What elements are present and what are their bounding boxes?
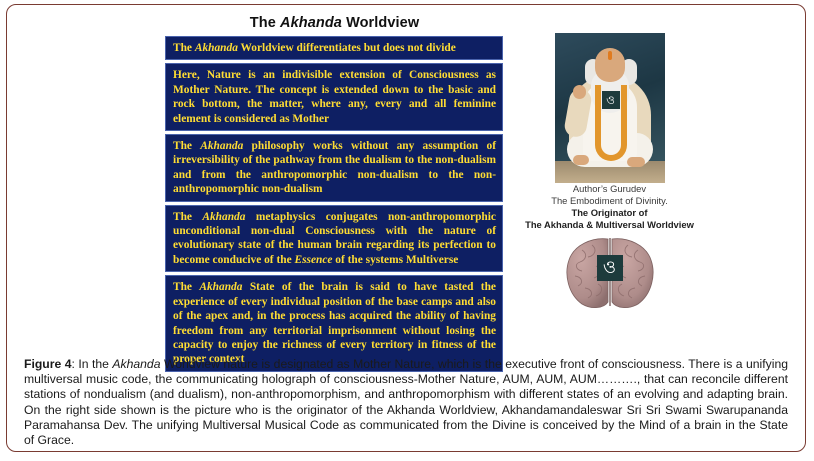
photo-caption-line-3: The Originator of <box>512 207 707 219</box>
panel-metaphysics-post2: of the systems Multiverse <box>332 254 458 266</box>
panel-state-italic: Akhanda <box>199 281 242 293</box>
photo-foot-right <box>627 157 645 167</box>
photo-caption-line-1: Author’s Gurudev <box>512 183 707 195</box>
photo-tilak <box>608 51 612 60</box>
brain-om-emblem-icon: ও <box>597 255 623 281</box>
om-emblem-icon: ও <box>602 91 620 109</box>
figure-caption-label: Figure 4 <box>24 357 71 371</box>
panel-mother-nature-text: Here, Nature is an indivisible extension… <box>173 69 496 124</box>
panel-differentiates: The Akhanda Worldview differentiates but… <box>165 36 503 60</box>
panel-differentiates-italic: Akhanda <box>195 42 238 54</box>
panel-metaphysics: The Akhanda metaphysics conjugates non-a… <box>165 205 503 273</box>
right-column: ও Author’s Gurudev The Embodiment of Div… <box>512 33 707 310</box>
figure-caption-italic: Akhanda <box>112 357 160 371</box>
diagram-title: The Akhanda Worldview <box>162 15 507 31</box>
panel-metaphysics-italic: Akhanda <box>202 211 245 223</box>
panel-metaphysics-italic-essence: Essence <box>294 254 332 266</box>
figure-caption: Figure 4: In the Akhanda Worldview natur… <box>24 357 788 448</box>
photo-hand <box>573 85 586 99</box>
panel-metaphysics-pre: The <box>173 211 202 223</box>
brain-illustration: ও <box>558 236 662 310</box>
panel-mother-nature: Here, Nature is an indivisible extension… <box>165 63 503 131</box>
panel-stack: The Akhanda Worldview differentiates but… <box>165 36 503 375</box>
diagram-title-prefix: The <box>250 15 280 31</box>
diagram-region: The Akhanda Worldview The Akhanda Worldv… <box>7 5 807 353</box>
photo-caption-line-2: The Embodiment of Divinity. <box>512 195 707 207</box>
panel-differentiates-post: Worldview differentiates but does not di… <box>238 42 456 54</box>
gurudev-photo: ও <box>555 33 665 183</box>
diagram-title-italic: Akhanda <box>280 15 342 31</box>
photo-caption-line-4: The Akhanda & Multiversal Worldview <box>512 219 707 231</box>
panel-state-pre: The <box>173 281 199 293</box>
photo-foot-left <box>573 155 589 165</box>
panel-philosophy-italic: Akhanda <box>200 140 243 152</box>
panel-state-post: State of the brain is said to have taste… <box>173 281 496 365</box>
figure-card: The Akhanda Worldview The Akhanda Worldv… <box>6 4 806 452</box>
figure-caption-part1: In the <box>78 357 112 371</box>
panel-differentiates-pre: The <box>173 42 195 54</box>
panel-philosophy: The Akhanda philosophy works without any… <box>165 134 503 202</box>
panel-philosophy-pre: The <box>173 140 200 152</box>
diagram-title-suffix: Worldview <box>342 15 419 31</box>
